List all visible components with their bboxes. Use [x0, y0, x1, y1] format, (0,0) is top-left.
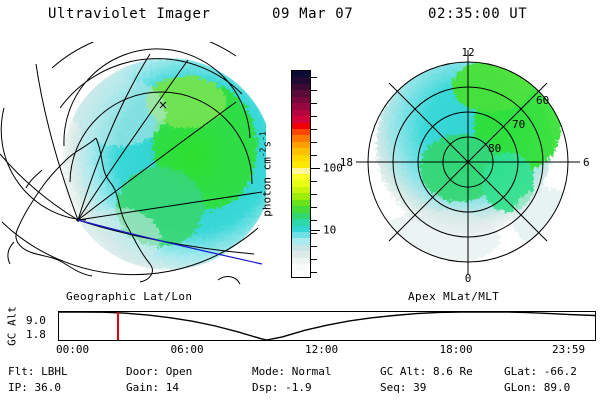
status-row-1: Flt: LBHLDoor: OpenMode: NormalGC Alt: 8… [0, 364, 600, 380]
status-label: GLat: [504, 365, 544, 378]
colorbar-tick-label-1: 10 [323, 224, 336, 237]
colorbar-minor-tick [311, 116, 317, 117]
status-label: GC Alt: [380, 365, 433, 378]
status-value: 8.6 Re [433, 365, 473, 378]
status-value: Normal [292, 365, 332, 378]
status-field-gain: Gain: 14 [126, 380, 252, 396]
colorbar-major-tick [311, 230, 320, 231]
status-value: 14 [166, 381, 179, 394]
orbit-altitude-plot[interactable] [58, 311, 596, 341]
status-label: Door: [126, 365, 166, 378]
right-panel-caption: Apex MLat/MLT [408, 290, 499, 303]
colorbar-minor-tick [311, 181, 317, 182]
mlt-label-0: 0 [465, 272, 472, 285]
left-panel-caption: Geographic Lat/Lon [66, 290, 192, 303]
colorbar-minor-tick [311, 272, 317, 273]
current-time-marker [117, 312, 119, 340]
apex-polar-plot[interactable]: 12 6 18 0 60 70 80 [340, 42, 600, 288]
orbit-x-tick-06:00: 06:00 [171, 343, 204, 356]
status-value: 36.0 [35, 381, 62, 394]
status-field-ip: IP: 36.0 [0, 380, 126, 396]
status-field-mode: Mode: Normal [252, 364, 380, 380]
status-field-dsp: Dsp: -1.9 [252, 380, 380, 396]
mlt-label-6: 6 [583, 156, 590, 169]
colorbar-major-tick [311, 168, 320, 169]
status-value: -66.2 [544, 365, 577, 378]
status-field-seq: Seq: 39 [380, 380, 504, 396]
status-value: Open [166, 365, 193, 378]
colorbar-minor-tick [311, 246, 317, 247]
colorbar-unit-main: photon cm [260, 157, 273, 217]
status-label: Flt: [8, 365, 41, 378]
orbit-x-tick-00:00: 00:00 [56, 343, 89, 356]
uvi-screenshot: Ultraviolet Imager 09 Mar 07 02:35:00 UT [0, 0, 600, 400]
colorbar-unit-exp2: -1 [259, 131, 268, 141]
observation-time: 02:35:00 UT [428, 6, 527, 22]
colorbar-minor-tick [311, 207, 317, 208]
status-panel: Flt: LBHLDoor: OpenMode: NormalGC Alt: 8… [0, 364, 600, 396]
orbit-y-tick-max: 9.0 [26, 314, 46, 327]
colorbar-minor-tick [311, 129, 317, 130]
status-label: Dsp: [252, 381, 285, 394]
mlat-label-70: 70 [512, 118, 525, 131]
geographic-polar-plot[interactable] [0, 42, 266, 288]
colorbar-band-31 [292, 271, 310, 277]
colorbar-unit-exp1: -2 [259, 148, 268, 158]
status-field-door: Door: Open [126, 364, 252, 380]
colorbar-minor-tick [311, 259, 317, 260]
status-value: 39 [413, 381, 426, 394]
status-label: GLon: [504, 381, 544, 394]
status-value: -1.9 [285, 381, 312, 394]
colorbar-minor-tick [311, 77, 317, 78]
altitude-trace [59, 312, 595, 340]
status-label: IP: [8, 381, 35, 394]
status-field-gc-alt: GC Alt: 8.6 Re [380, 364, 504, 380]
orbit-altitude-curve [59, 312, 595, 340]
orbit-x-tick-12:00: 12:00 [305, 343, 338, 356]
orbit-y-axis-title: GC Alt [6, 306, 19, 346]
status-label: Mode: [252, 365, 292, 378]
status-row-2: IP: 36.0Gain: 14Dsp: -1.9Seq: 39GLon: 89… [0, 380, 600, 396]
observation-date: 09 Mar 07 [272, 6, 353, 22]
mlat-label-80: 80 [488, 142, 501, 155]
colorbar-ticks: 10010 [311, 70, 317, 278]
colorbar-minor-tick [311, 233, 317, 234]
colorbar-minor-tick [311, 155, 317, 156]
colorbar-minor-tick [311, 220, 317, 221]
instrument-title: Ultraviolet Imager [48, 6, 211, 22]
colorbar-minor-tick [311, 90, 317, 91]
aurora-emission-left [62, 58, 266, 270]
mlt-label-18: 18 [340, 156, 353, 169]
mlt-label-12: 12 [461, 46, 474, 59]
status-field-glat: GLat: -66.2 [504, 364, 577, 380]
status-field-glon: GLon: 89.0 [504, 380, 570, 396]
orbit-x-tick-23:59: 23:59 [552, 343, 585, 356]
orbit-y-tick-min: 1.8 [26, 328, 46, 341]
colorbar-minor-tick [311, 194, 317, 195]
status-field-flt: Flt: LBHL [0, 364, 126, 380]
colorbar-gradient [291, 70, 311, 278]
status-label: Seq: [380, 381, 413, 394]
mlt-spokes [356, 50, 580, 274]
colorbar-minor-tick [311, 103, 317, 104]
status-value: 89.0 [544, 381, 571, 394]
status-label: Gain: [126, 381, 166, 394]
colorbar-minor-tick [311, 142, 317, 143]
orbit-x-tick-18:00: 18:00 [440, 343, 473, 356]
mlat-label-60: 60 [536, 94, 549, 107]
colorbar-unit-mid: s [260, 141, 273, 148]
status-value: LBHL [41, 365, 68, 378]
colorbar-axis-title: photon cm-2s-1 [259, 131, 274, 217]
